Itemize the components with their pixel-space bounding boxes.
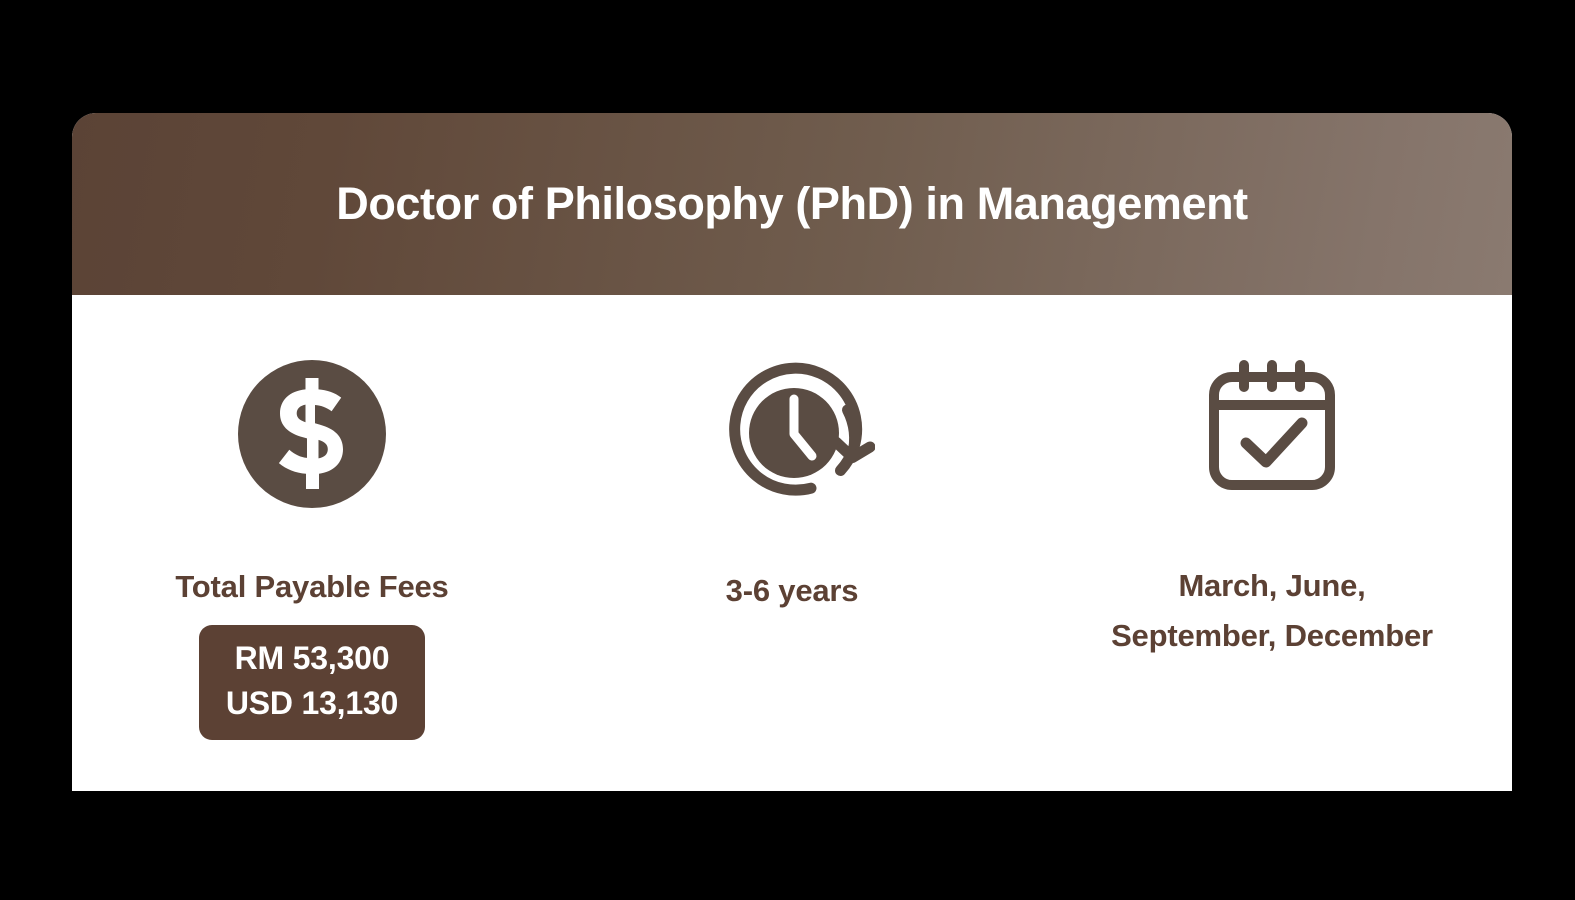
card-body: Total Payable Fees RM 53,300 USD 13,130 <box>72 295 1512 791</box>
calendar-check-icon <box>1202 355 1342 495</box>
screenshot-canvas: Doctor of Philosophy (PhD) in Management… <box>0 0 1575 900</box>
page-title: Doctor of Philosophy (PhD) in Management <box>336 179 1248 229</box>
intakes-label: March, June, September, December <box>1111 561 1433 661</box>
info-column-duration: 3-6 years <box>552 295 1032 606</box>
intakes-label-line-2: September, December <box>1111 611 1433 661</box>
intakes-label-line-1: March, June, <box>1111 561 1433 611</box>
dollar-coin-icon <box>238 360 386 508</box>
fee-amount-myr: RM 53,300 <box>226 636 398 681</box>
duration-label: 3-6 years <box>726 575 859 606</box>
programme-info-card: Doctor of Philosophy (PhD) in Management… <box>72 113 1512 791</box>
fee-amount-usd: USD 13,130 <box>226 681 398 726</box>
info-column-intakes: March, June, September, December <box>1032 295 1512 661</box>
clock-rotate-icon <box>710 358 875 510</box>
fees-label: Total Payable Fees <box>175 571 448 602</box>
fee-amount-badge: RM 53,300 USD 13,130 <box>199 625 425 740</box>
info-column-fees: Total Payable Fees RM 53,300 USD 13,130 <box>72 295 552 740</box>
card-header: Doctor of Philosophy (PhD) in Management <box>72 113 1512 295</box>
